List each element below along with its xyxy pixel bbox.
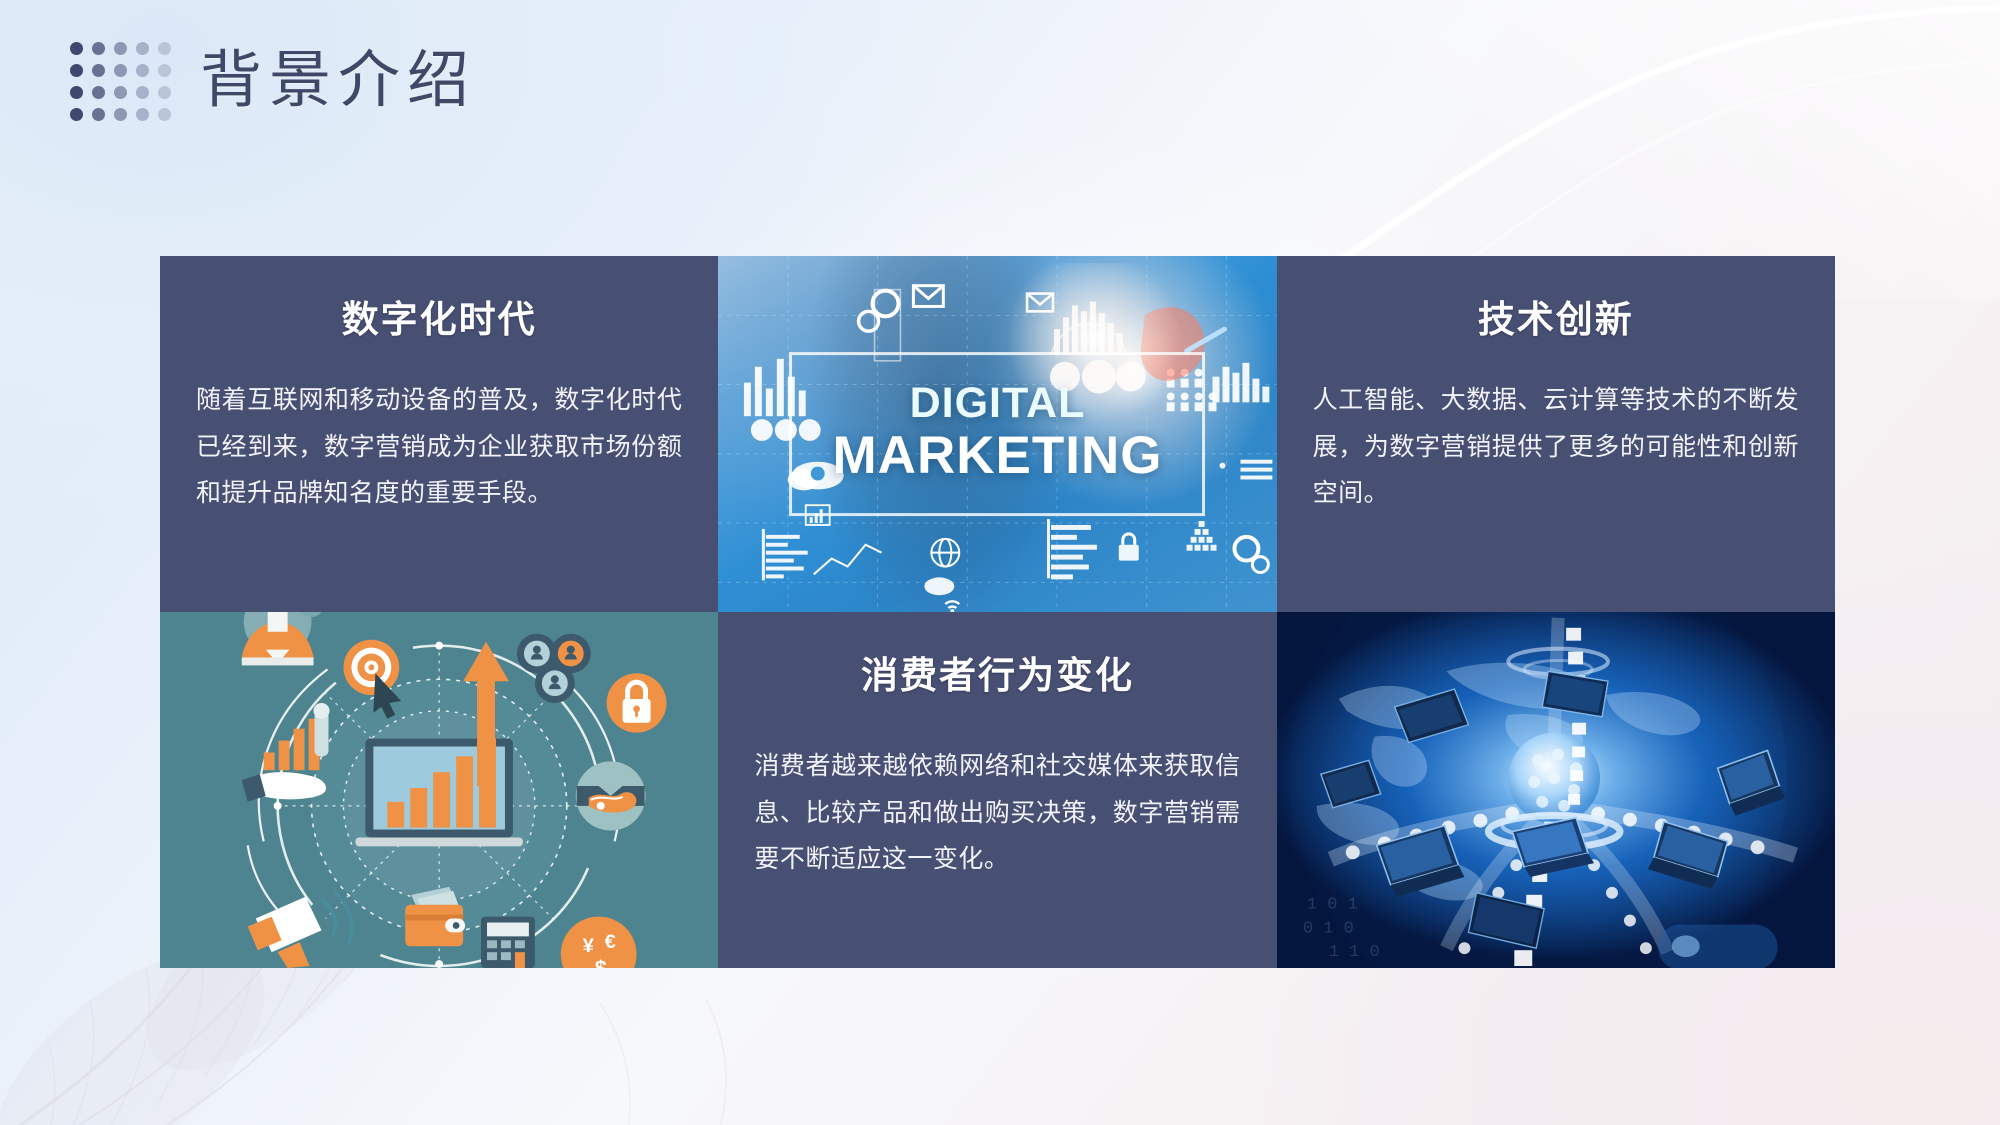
card-consumer-behavior: 消费者行为变化 消费者越来越依赖网络和社交媒体来获取信息、比较产品和做出购买决策…	[718, 612, 1276, 968]
card-body: 随着互联网和移动设备的普及，数字化时代已经到来，数字营销成为企业获取市场份额和提…	[196, 378, 682, 517]
svg-text:¥: ¥	[583, 935, 594, 957]
overlay-line-1: DIGITAL	[833, 381, 1163, 426]
svg-text:€: €	[605, 931, 616, 953]
card-tech-innovation: 技术创新 人工智能、大数据、云计算等技术的不断发展，为数字营销提供了更多的可能性…	[1277, 256, 1835, 612]
content-card-grid: 数字化时代 随着互联网和移动设备的普及，数字化时代已经到来，数字营销成为企业获取…	[160, 256, 1835, 968]
page-title: 背景介绍	[200, 38, 476, 124]
card-title: 技术创新	[1313, 298, 1799, 344]
globe-network-illustration: 1 0 1 0 1 0 1 1 0	[1277, 612, 1835, 968]
card-title: 消费者行为变化	[754, 654, 1240, 700]
marketing-ecosystem-infographic: ¥ € $	[160, 612, 718, 968]
overlay-line-2: MARKETING	[833, 428, 1163, 483]
infographic-illustration: ¥ € $	[160, 612, 718, 968]
svg-text:0 1 0: 0 1 0	[1303, 919, 1354, 938]
card-body: 人工智能、大数据、云计算等技术的不断发展，为数字营销提供了更多的可能性和创新空间…	[1313, 378, 1799, 517]
svg-text:1 1 0: 1 1 0	[1329, 943, 1380, 962]
digital-marketing-overlay-label: DIGITAL MARKETING	[790, 352, 1206, 516]
card-title: 数字化时代	[196, 298, 682, 344]
svg-text:$: $	[595, 956, 607, 968]
digital-marketing-hero-image: DIGITAL MARKETING	[718, 256, 1276, 612]
dot-grid-icon	[70, 42, 166, 120]
global-network-connectivity-image: 1 0 1 0 1 0 1 1 0	[1277, 612, 1835, 968]
slide-header: 背景介绍	[0, 0, 2000, 190]
card-digital-era: 数字化时代 随着互联网和移动设备的普及，数字化时代已经到来，数字营销成为企业获取…	[160, 256, 718, 612]
svg-text:1 0 1: 1 0 1	[1307, 896, 1358, 915]
card-body: 消费者越来越依赖网络和社交媒体来获取信息、比较产品和做出购买决策，数字营销需要不…	[754, 744, 1240, 883]
